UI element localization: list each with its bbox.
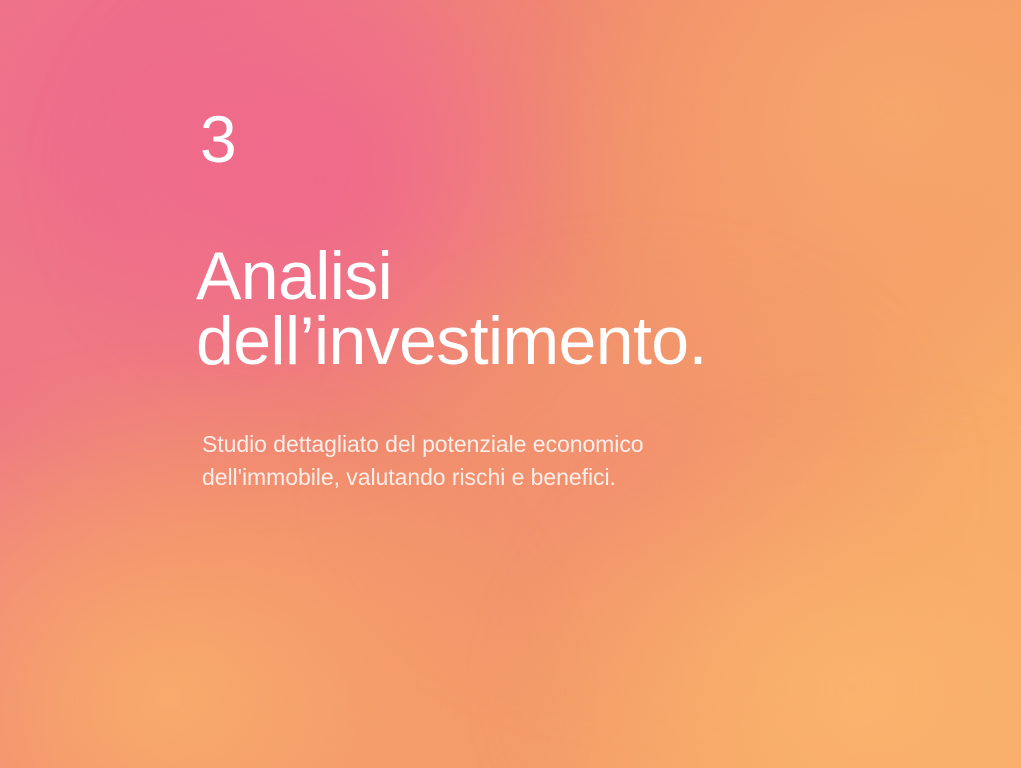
section-number: 3 <box>200 106 237 172</box>
subtitle-line-1: Studio dettagliato del potenziale econom… <box>202 428 644 461</box>
presentation-slide: 3 Analisi dell’investimento. Studio dett… <box>0 0 1021 768</box>
subtitle-line-2: dell'immobile, valutando rischi e benefi… <box>202 461 644 494</box>
page-subtitle: Studio dettagliato del potenziale econom… <box>202 428 644 494</box>
slide-content: 3 Analisi dell’investimento. Studio dett… <box>200 0 960 768</box>
title-line-2: dell’investimento. <box>196 309 707 374</box>
title-line-1: Analisi <box>196 244 707 309</box>
page-title: Analisi dell’investimento. <box>196 244 707 374</box>
